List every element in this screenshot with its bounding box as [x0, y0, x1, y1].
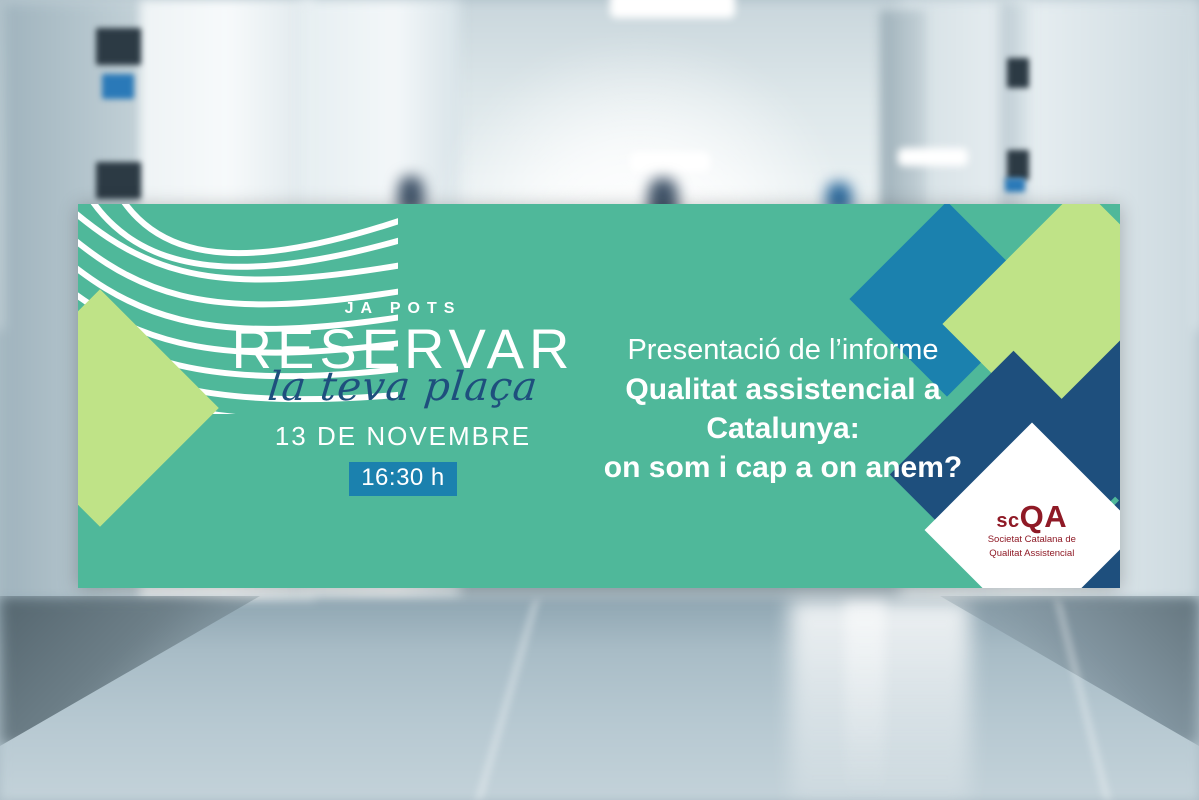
event-date: 13 DE NOVEMBRE [228, 421, 578, 452]
event-time-badge: 16:30 h [349, 462, 457, 496]
reservation-text-block: JA POTS RESERVAR la teva plaça 13 DE NOV… [228, 300, 578, 496]
kicker-ja-pots: JA POTS [228, 300, 578, 318]
logo-qa-text: QA [1020, 499, 1068, 534]
door-sign-plate-2 [96, 162, 141, 199]
wall-sign-plate-4 [1007, 150, 1029, 180]
report-intro-line: Presentació de l’informe [548, 332, 1018, 370]
logo-sc-text: sc [997, 510, 1020, 532]
script-la-teva-placa: la teva plaça [226, 367, 580, 407]
event-banner: scQA Societat Catalana de Qualitat Assis… [78, 204, 1120, 588]
report-title-block: Presentació de l’informe Qualitat assist… [548, 332, 1018, 487]
door-sign-plate-1 [96, 28, 141, 65]
scqa-wordmark: scQA [988, 501, 1076, 532]
door-sign-plate-blue [102, 74, 134, 99]
ceiling-light-3 [898, 148, 968, 166]
scqa-logo-inner: scQA Societat Catalana de Qualitat Assis… [988, 501, 1076, 560]
report-title-line-2: on som i cap a on anem? [548, 448, 1018, 487]
report-title-line-1: Qualitat assistencial a Catalunya: [548, 370, 1018, 448]
event-time-wrapper: 16:30 h [228, 462, 578, 496]
wall-sign-plate-3 [1007, 58, 1029, 88]
wall-sign-plate-blue-2 [1005, 178, 1025, 192]
ceiling-light-2 [630, 152, 710, 172]
ceiling-light-1 [610, 0, 735, 18]
floor-reflection-center [845, 600, 885, 800]
logo-subtitle-line-2: Qualitat Assistencial [988, 547, 1076, 559]
logo-subtitle-line-1: Societat Catalana de [988, 534, 1076, 546]
